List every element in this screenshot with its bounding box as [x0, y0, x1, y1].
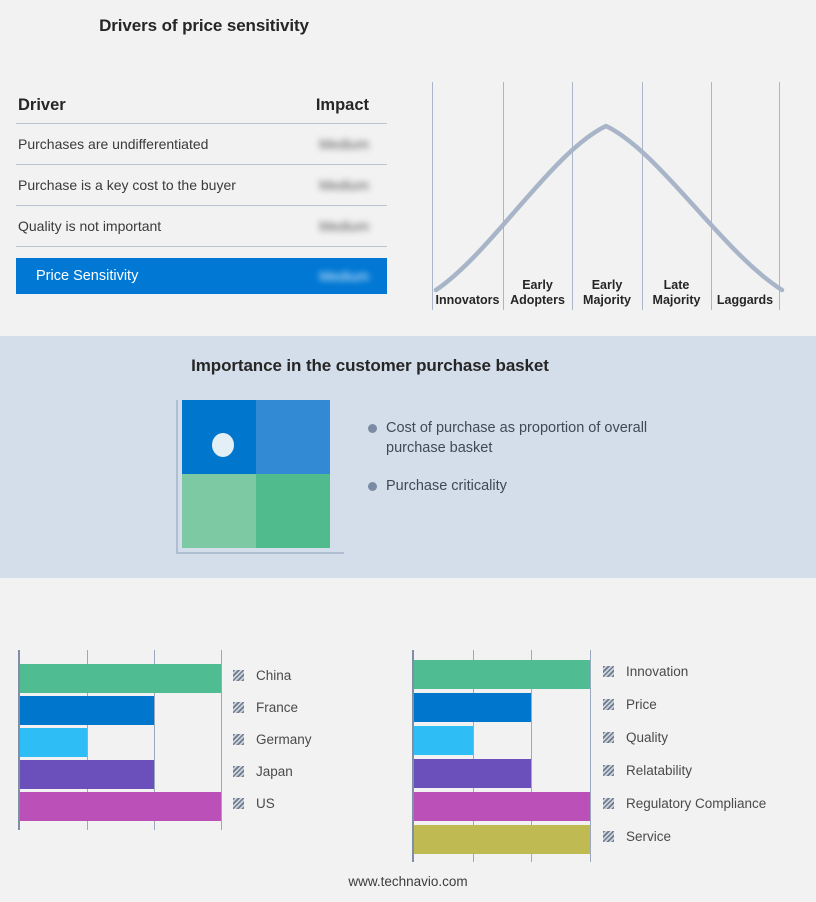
bullet-icon — [368, 482, 377, 491]
legend-item: Price — [603, 688, 766, 721]
driver-label: Quality is not important — [16, 218, 161, 234]
bar-innovation — [414, 660, 590, 689]
price-sensitivity-summary-row: Price Sensitivity Medium — [16, 258, 387, 294]
footer-url: www.technavio.com — [0, 874, 816, 889]
legend-item: China — [233, 659, 312, 691]
adoption-rates-panel: Adoption rates — [0, 578, 408, 902]
column-header-impact: Impact — [316, 96, 387, 115]
stage-label-text: Innovators — [436, 293, 500, 307]
matrix-quadrant-top-right — [256, 400, 330, 474]
importance-legend: Cost of purchase as proportion of overal… — [368, 418, 668, 514]
legend-label: Cost of purchase as proportion of overal… — [386, 418, 648, 458]
legend-item: Cost of purchase as proportion of overal… — [368, 418, 668, 458]
legend-item: US — [233, 787, 312, 819]
legend-label: Relatability — [626, 763, 692, 778]
importance-matrix — [182, 400, 330, 548]
legend-swatch-icon — [603, 699, 614, 710]
legend-swatch-icon — [603, 831, 614, 842]
stage-label-innovators: Innovators — [432, 293, 503, 308]
legend-item: Japan — [233, 755, 312, 787]
bar-japan — [20, 760, 154, 789]
summary-impact-value: Medium — [319, 268, 387, 284]
bar-china — [20, 664, 221, 693]
column-header-driver: Driver — [16, 96, 66, 115]
lifecycle-panel: Adoption lifecycle Innovators Early Adop… — [408, 0, 816, 336]
bar-france — [20, 696, 154, 725]
bar-price — [414, 693, 531, 722]
drivers-panel: Drivers of price sensitivity Driver Impa… — [0, 0, 408, 336]
legend-label: Price — [626, 697, 657, 712]
bar-germany — [20, 728, 87, 757]
key-purchase-criteria-legend: Innovation Price Quality Relatability Re… — [603, 655, 766, 853]
legend-label: US — [256, 796, 275, 811]
matrix-x-axis — [176, 552, 344, 554]
legend-item: Innovation — [603, 655, 766, 688]
matrix-quadrant-top-left — [182, 400, 256, 474]
drivers-table: Driver Impact Purchases are undifferenti… — [16, 88, 387, 294]
legend-item: France — [233, 691, 312, 723]
stage-label-early-adopters: Early Adopters — [503, 278, 572, 308]
legend-label: Innovation — [626, 664, 688, 679]
legend-item: Purchase criticality — [368, 476, 668, 496]
key-purchase-criteria-plot — [412, 650, 592, 862]
legend-label: Regulatory Compliance — [626, 796, 766, 811]
legend-swatch-icon — [233, 670, 244, 681]
summary-label: Price Sensitivity — [36, 268, 138, 284]
legend-swatch-icon — [233, 702, 244, 713]
impact-value: Medium — [319, 136, 387, 152]
legend-label: France — [256, 700, 298, 715]
stage-label-text: Early Adopters — [510, 278, 565, 307]
gridline — [590, 650, 591, 862]
driver-label: Purchases are undifferentiated — [16, 136, 208, 152]
legend-label: Quality — [626, 730, 668, 745]
lifecycle-stage-labels: Innovators Early Adopters Early Majority… — [432, 82, 804, 310]
legend-item: Germany — [233, 723, 312, 755]
drivers-title: Drivers of price sensitivity — [0, 16, 408, 36]
matrix-y-axis — [176, 400, 178, 552]
matrix-quadrant-bottom-left — [182, 474, 256, 548]
bar-quality — [414, 726, 473, 755]
stage-label-late-majority: Late Majority — [642, 278, 711, 308]
table-header-row: Driver Impact — [16, 88, 387, 124]
stage-label-text: Early Majority — [583, 278, 631, 307]
impact-value: Medium — [319, 177, 387, 193]
infographic-page: Drivers of price sensitivity Driver Impa… — [0, 0, 816, 902]
bar-regulatory-compliance — [414, 792, 590, 821]
legend-swatch-icon — [603, 798, 614, 809]
lifecycle-plot: Innovators Early Adopters Early Majority… — [432, 82, 804, 310]
legend-label: China — [256, 668, 291, 683]
legend-label: Service — [626, 829, 671, 844]
legend-item: Quality — [603, 721, 766, 754]
legend-label: Purchase criticality — [386, 476, 507, 496]
table-row: Purchase is a key cost to the buyer Medi… — [16, 165, 387, 206]
adoption-rates-legend: China France Germany Japan US — [233, 659, 312, 819]
stage-label-text: Laggards — [717, 293, 773, 307]
legend-swatch-icon — [233, 734, 244, 745]
matrix-position-marker — [212, 433, 234, 457]
bar-relatability — [414, 759, 531, 788]
legend-swatch-icon — [233, 798, 244, 809]
table-row: Quality is not important Medium — [16, 206, 387, 247]
driver-label: Purchase is a key cost to the buyer — [16, 177, 236, 193]
key-purchase-criteria-panel: Key purchase criteria — [408, 578, 816, 902]
legend-item: Service — [603, 820, 766, 853]
stage-label-laggards: Laggards — [711, 293, 779, 308]
legend-item: Regulatory Compliance — [603, 787, 766, 820]
matrix-quadrant-bottom-right — [256, 474, 330, 548]
legend-label: Japan — [256, 764, 293, 779]
legend-swatch-icon — [603, 666, 614, 677]
legend-swatch-icon — [233, 766, 244, 777]
legend-swatch-icon — [603, 765, 614, 776]
table-row: Purchases are undifferentiated Medium — [16, 124, 387, 165]
importance-title: Importance in the customer purchase bask… — [0, 356, 740, 376]
bar-service — [414, 825, 590, 854]
stage-label-early-majority: Early Majority — [572, 278, 642, 308]
impact-value: Medium — [319, 218, 387, 234]
legend-swatch-icon — [603, 732, 614, 743]
legend-item: Relatability — [603, 754, 766, 787]
stage-label-text: Late Majority — [653, 278, 701, 307]
adoption-rates-plot — [18, 650, 222, 830]
bullet-icon — [368, 424, 377, 433]
bar-us — [20, 792, 221, 821]
legend-label: Germany — [256, 732, 312, 747]
gridline — [221, 650, 222, 830]
